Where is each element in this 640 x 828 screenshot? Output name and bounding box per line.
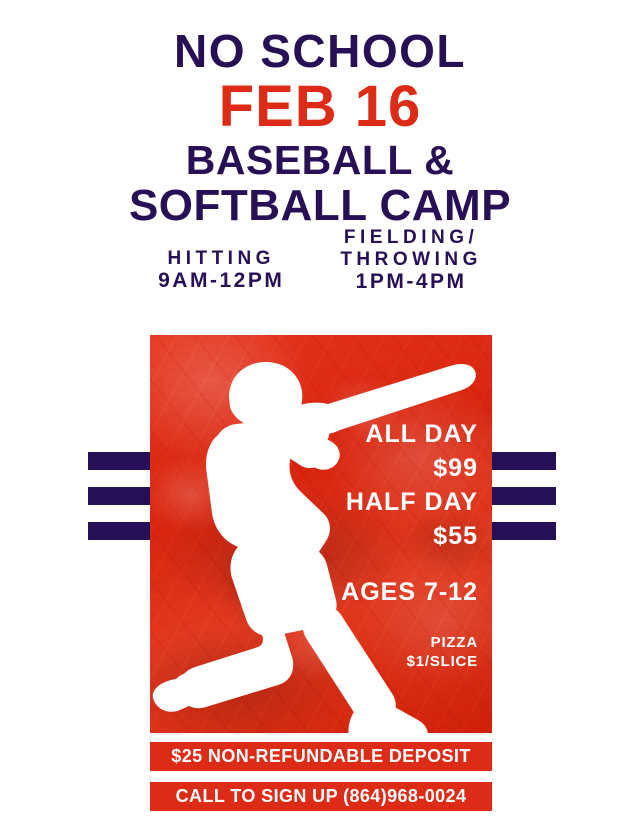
session-fielding: FIELDING/ THROWING 1PM-4PM: [340, 227, 482, 293]
session-hitting-name: HITTING: [158, 248, 284, 270]
price-all-day-label: ALL DAY: [288, 417, 478, 451]
price-half-day-value: $55: [288, 519, 478, 553]
price-half-day-label: HALF DAY: [288, 485, 478, 519]
price-all-day-value: $99: [288, 451, 478, 485]
navy-stripe-left-2: [88, 487, 158, 505]
session-times: HITTING 9AM-12PM FIELDING/ THROWING 1PM-…: [0, 248, 640, 314]
session-fielding-name-line1: FIELDING/: [340, 227, 482, 249]
session-fielding-time: 1PM-4PM: [340, 271, 482, 293]
call-to-sign-up-banner[interactable]: CALL TO SIGN UP (864)968-0024: [150, 782, 492, 811]
session-fielding-name-line2: THROWING: [340, 249, 482, 271]
headline-block: NO SCHOOL FEB 16 BASEBALL & SOFTBALL CAM…: [0, 26, 640, 230]
navy-stripe-right-2: [486, 487, 556, 505]
session-hitting-time: 9AM-12PM: [158, 270, 284, 292]
navy-stripe-right-1: [486, 452, 556, 470]
navy-stripe-left-3: [88, 522, 158, 540]
navy-stripe-left-1: [88, 452, 158, 470]
flyer-canvas: NO SCHOOL FEB 16 BASEBALL & SOFTBALL CAM…: [0, 0, 640, 828]
navy-stripe-right-3: [486, 522, 556, 540]
red-photo-panel: ALL DAY $99 HALF DAY $55 AGES 7-12 PIZZA…: [150, 335, 492, 733]
headline-date: FEB 16: [0, 76, 640, 138]
headline-softball-camp: SOFTBALL CAMP: [0, 182, 640, 230]
headline-no-school: NO SCHOOL: [0, 26, 640, 76]
pricing-block: ALL DAY $99 HALF DAY $55 AGES 7-12 PIZZA…: [288, 417, 478, 671]
deposit-banner: $25 NON-REFUNDABLE DEPOSIT: [150, 742, 492, 771]
headline-baseball: BASEBALL &: [0, 138, 640, 182]
pizza-label: PIZZA: [288, 633, 478, 652]
session-hitting: HITTING 9AM-12PM: [158, 248, 284, 292]
pizza-price: $1/SLICE: [288, 652, 478, 671]
ages-range: AGES 7-12: [288, 575, 478, 609]
